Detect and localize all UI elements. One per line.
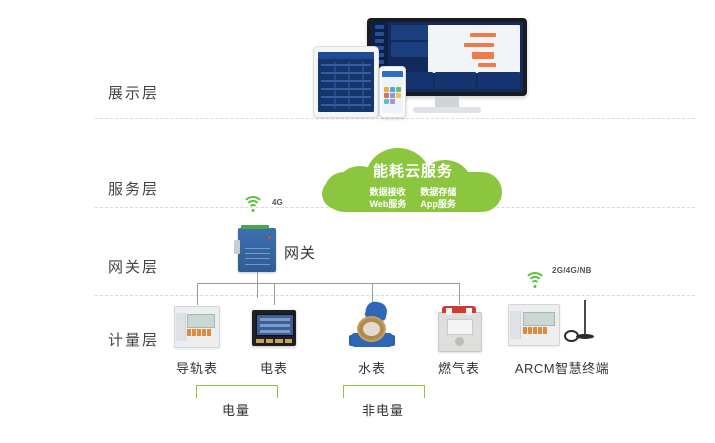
layer-label-display: 展示层	[108, 82, 198, 103]
din-rail-meter-icon	[164, 302, 230, 352]
wifi-icon	[242, 196, 264, 213]
meter-din-rail: 导轨表	[164, 302, 230, 377]
gateway-network-tag: 4G	[272, 198, 283, 207]
bracket-non-electric	[343, 385, 425, 398]
dashboard-map-panel	[428, 25, 520, 73]
monitor-stand-neck	[435, 96, 459, 107]
meter-label-water: 水表	[339, 358, 405, 377]
meter-label-din-rail: 导轨表	[164, 358, 230, 377]
cable-coil	[564, 330, 579, 342]
app-icon-grid	[384, 87, 401, 104]
bracket-electric	[196, 385, 278, 398]
dashboard-bottom-widgets	[391, 72, 520, 89]
arcm-device-icon	[508, 304, 560, 346]
meter-gas: 燃气表	[426, 302, 492, 377]
display-layer-devices	[305, 8, 540, 116]
meter-label-gas: 燃气表	[426, 358, 492, 377]
water-meter-icon	[339, 302, 405, 352]
cloud-subitems: 数据接收 Web服务 数据存储 App服务	[318, 186, 508, 210]
gas-meter-icon	[426, 302, 492, 352]
cloud-title: 能耗云服务	[318, 160, 508, 181]
gateway-label: 网关	[284, 242, 316, 263]
layer-separator-1	[95, 118, 695, 119]
layer-separator-3	[95, 295, 695, 296]
wifi-icon-terminal	[524, 272, 546, 289]
monitor-stand-base	[413, 107, 481, 113]
architecture-diagram: 展示层 服务层 网关层 计量层	[0, 0, 715, 443]
cloud-item-data-receive: 数据接收	[370, 186, 407, 198]
tablet-screen	[318, 52, 374, 112]
arcm-terminal	[500, 300, 620, 356]
meter-water: 水表	[339, 302, 405, 377]
smartphone-device	[379, 66, 406, 118]
tablet-device	[313, 46, 379, 118]
layer-label-service: 服务层	[108, 178, 198, 199]
cloud-item-data-storage: 数据存储	[420, 186, 456, 198]
cloud-item-web-service: Web服务	[370, 198, 407, 210]
dashboard-main	[388, 22, 523, 92]
layer-label-gateway: 网关层	[108, 256, 198, 277]
bracket-label-electric: 电量	[196, 400, 276, 419]
electricity-meter-icon	[241, 302, 307, 352]
cloud-service: 能耗云服务 数据接收 Web服务 数据存储 App服务	[318, 146, 508, 212]
terminal-network-tag: 2G/4G/NB	[552, 266, 592, 275]
cloud-text-block: 能耗云服务 数据接收 Web服务 数据存储 App服务	[318, 146, 508, 212]
cloud-item-app-service: App服务	[420, 198, 456, 210]
meter-label-electricity: 电表	[241, 358, 307, 377]
connector-bus	[197, 283, 459, 284]
gateway-device	[238, 228, 276, 272]
smartphone-screen	[382, 71, 403, 113]
connector-gateway-trunk	[257, 272, 258, 298]
antenna-icon	[584, 300, 586, 336]
meter-electricity: 电表	[241, 302, 307, 377]
terminal-label: ARCM智慧终端	[492, 358, 632, 377]
bracket-label-non-electric: 非电量	[343, 400, 423, 419]
